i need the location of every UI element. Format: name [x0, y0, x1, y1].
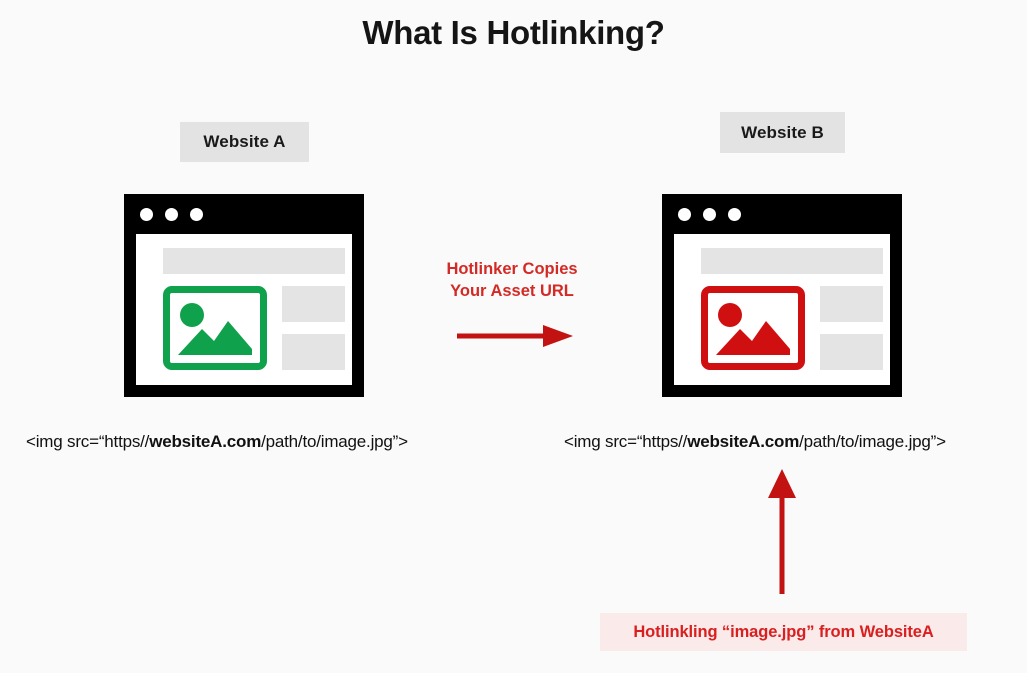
image-placeholder-icon	[163, 286, 267, 370]
content-side-block	[820, 334, 883, 370]
website-b-badge: Website B	[720, 112, 845, 153]
website-a-browser-window	[124, 194, 364, 397]
website-b-browser-window	[662, 194, 902, 397]
copy-direction-arrow-icon	[455, 322, 575, 350]
website-a-code-line: <img src=“https//websiteA.com/path/to/im…	[26, 432, 408, 452]
window-dot-icon	[703, 208, 716, 221]
content-side-block	[820, 286, 883, 322]
browser-page-content	[674, 234, 890, 385]
browser-titlebar	[662, 194, 902, 234]
code-suffix: /path/to/image.jpg”>	[799, 432, 946, 451]
code-domain: websiteA.com	[149, 432, 261, 451]
content-side-block	[282, 286, 345, 322]
browser-page-content	[136, 234, 352, 385]
picture-glyph-icon	[708, 293, 798, 363]
hotlinker-copies-label: Hotlinker Copies Your Asset URL	[414, 258, 610, 302]
hotlinker-copies-label-line2: Your Asset URL	[414, 280, 610, 302]
code-suffix: /path/to/image.jpg”>	[261, 432, 408, 451]
website-b-badge-label: Website B	[741, 123, 824, 143]
content-header-bar	[701, 248, 883, 274]
browser-titlebar	[124, 194, 364, 234]
hotlink-callout-label: Hotlinkling “image.jpg” from WebsiteA	[633, 623, 933, 642]
hotlinker-copies-label-line1: Hotlinker Copies	[414, 258, 610, 280]
code-domain: websiteA.com	[687, 432, 799, 451]
picture-glyph-icon	[170, 293, 260, 363]
content-header-bar	[163, 248, 345, 274]
window-dot-icon	[190, 208, 203, 221]
diagram-canvas: What Is Hotlinking? Website A <img src=“…	[0, 0, 1027, 673]
window-dot-icon	[728, 208, 741, 221]
page-title: What Is Hotlinking?	[0, 14, 1027, 52]
window-dot-icon	[165, 208, 178, 221]
website-b-code-line: <img src=“https//websiteA.com/path/to/im…	[564, 432, 946, 452]
window-dot-icon	[678, 208, 691, 221]
code-prefix: <img src=“https//	[564, 432, 687, 451]
content-side-block	[282, 334, 345, 370]
website-a-badge-label: Website A	[203, 132, 285, 152]
hotlink-callout: Hotlinkling “image.jpg” from WebsiteA	[600, 613, 967, 651]
image-placeholder-icon	[701, 286, 805, 370]
code-prefix: <img src=“https//	[26, 432, 149, 451]
website-a-badge: Website A	[180, 122, 309, 162]
hotlink-source-arrow-icon	[760, 468, 804, 596]
window-dot-icon	[140, 208, 153, 221]
